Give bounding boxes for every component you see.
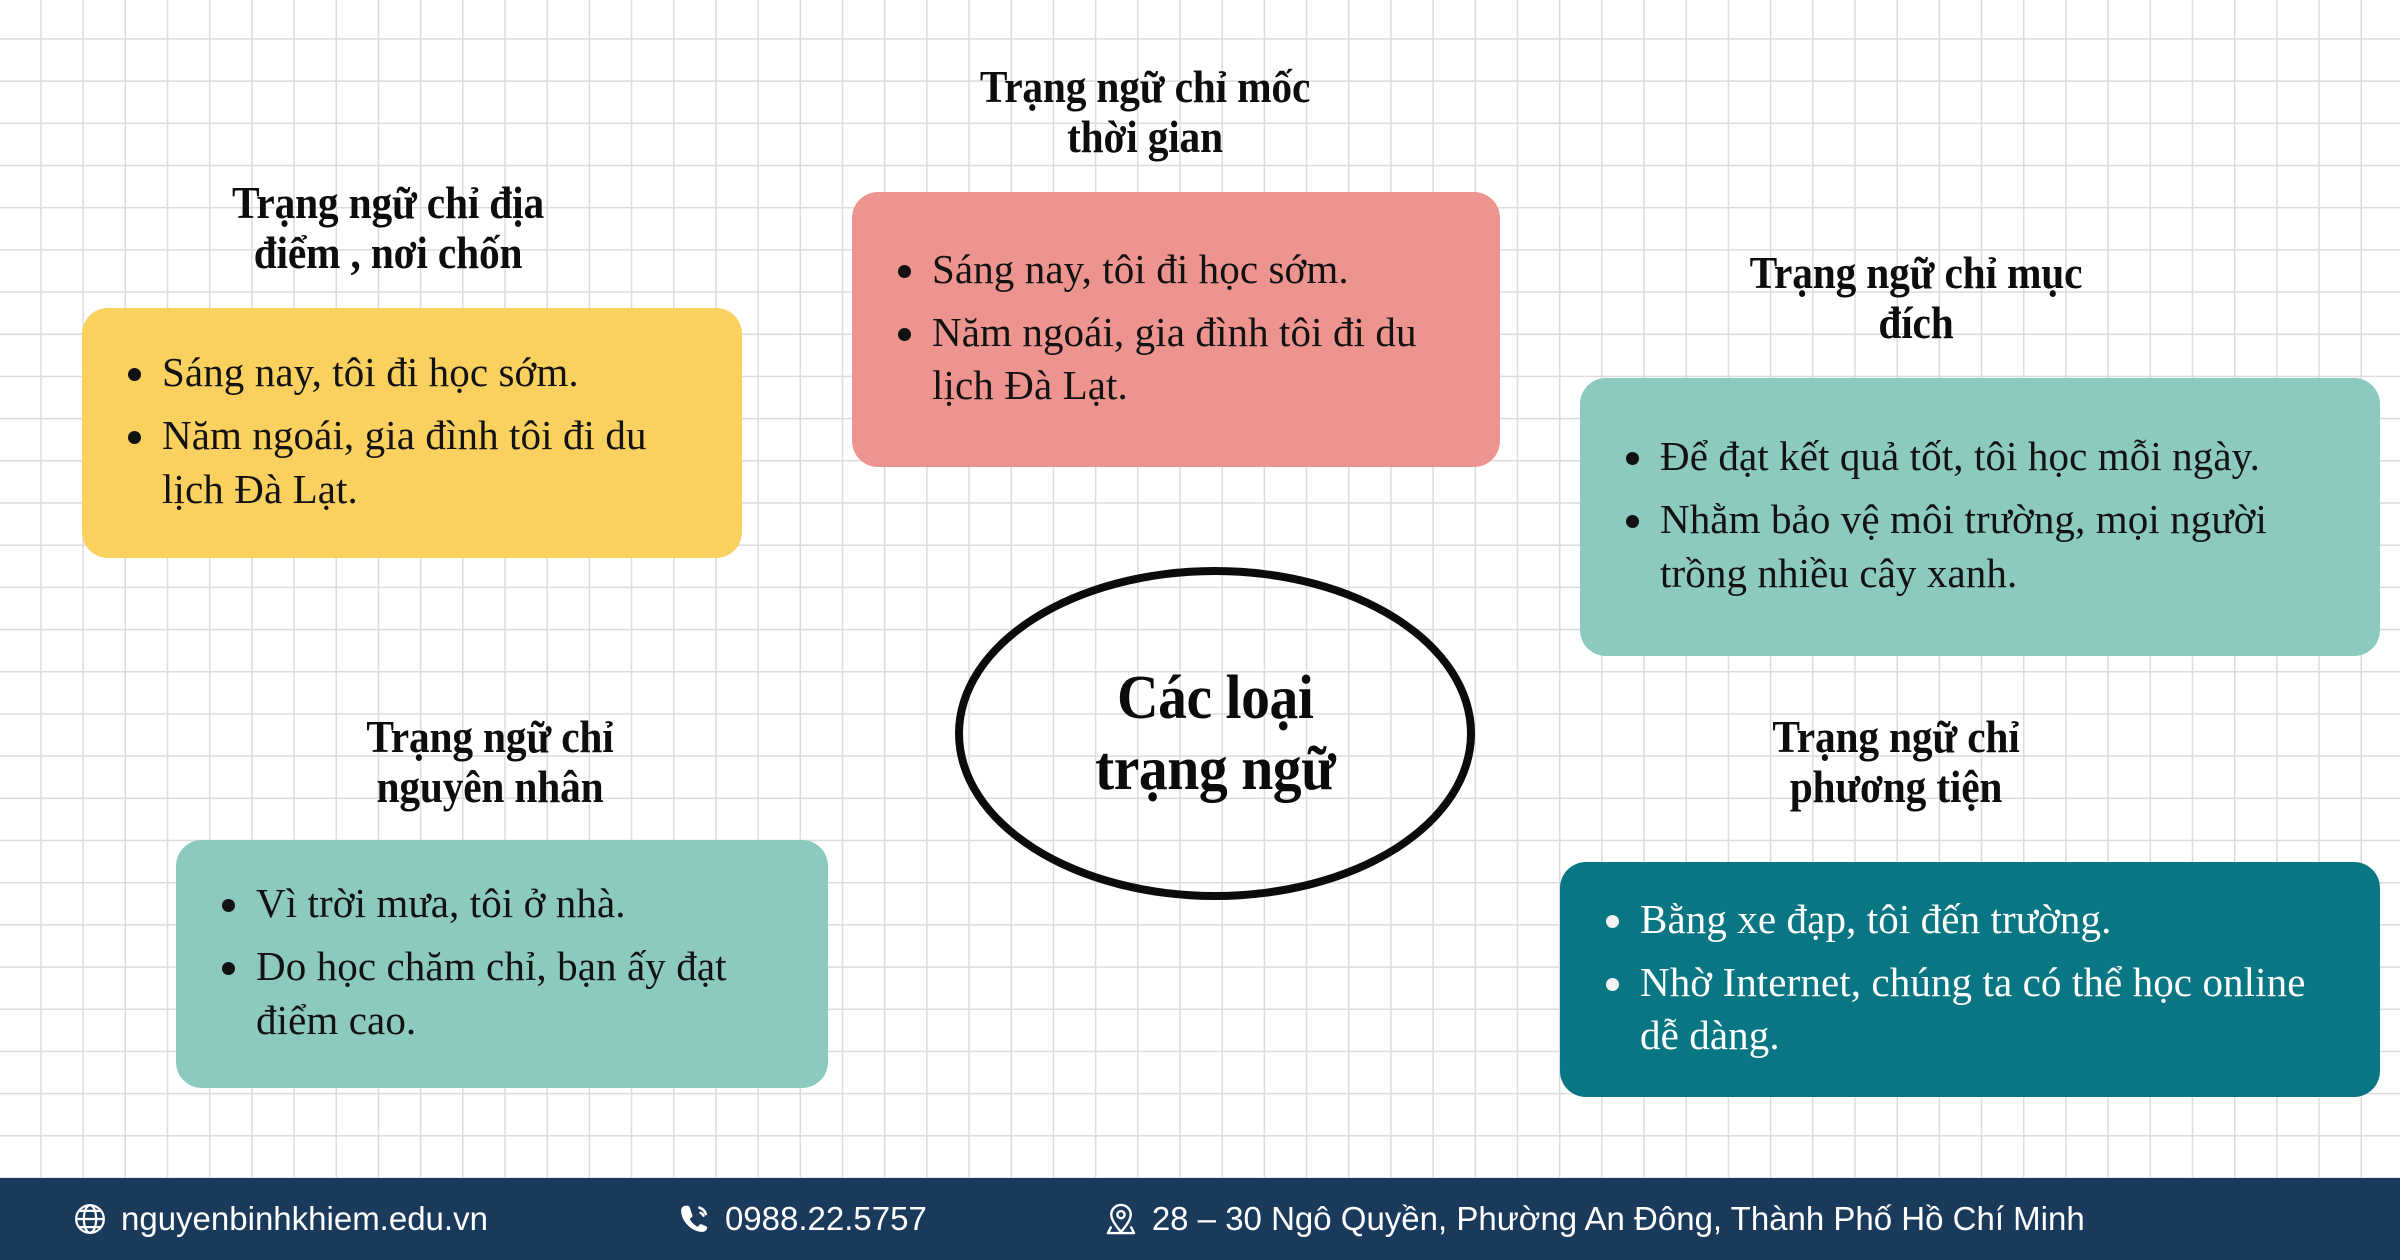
card-means: Bằng xe đạp, tôi đến trường. Nhờ Interne… (1560, 862, 2380, 1097)
address-text: 28 – 30 Ngô Quyền, Phường An Đông, Thành… (1152, 1200, 2085, 1238)
heading-purpose-line1: Trạng ngữ chỉ mục (1658, 248, 2173, 298)
card-time: Sáng nay, tôi đi học sớm. Năm ngoái, gia… (852, 192, 1500, 467)
list-item: Nhờ Internet, chúng ta có thể học online… (1594, 956, 2346, 1063)
card-purpose-list: Để đạt kết quả tốt, tôi học mỗi ngày. Nh… (1614, 430, 2346, 600)
heading-place-line1: Trạng ngữ chỉ địa (130, 178, 645, 228)
center-node-ellipse: Các loại trạng ngữ (955, 567, 1475, 900)
website-text: nguyenbinhkhiem.edu.vn (121, 1200, 488, 1238)
list-item: Sáng nay, tôi đi học sớm. (886, 243, 1466, 296)
card-cause: Vì trời mưa, tôi ở nhà. Do học chăm chỉ,… (176, 840, 828, 1088)
list-item: Bằng xe đạp, tôi đến trường. (1594, 893, 2346, 946)
list-item: Nhằm bảo vệ môi trường, mọi người trồng … (1614, 493, 2346, 600)
list-item: Năm ngoái, gia đình tôi đi du lịch Đà Lạ… (116, 409, 708, 516)
center-label-line2: trạng ngữ (1095, 734, 1335, 805)
heading-means: Trạng ngữ chỉ phương tiện (1657, 712, 2135, 813)
phone-text: 0988.22.5757 (725, 1200, 927, 1238)
heading-time-line1: Trạng ngữ chỉ mốc (883, 62, 1407, 112)
list-item: Sáng nay, tôi đi học sớm. (116, 346, 708, 399)
heading-purpose-line2: đích (1658, 298, 2173, 348)
card-purpose: Để đạt kết quả tốt, tôi học mỗi ngày. Nh… (1580, 378, 2380, 656)
contact-address[interactable]: 28 – 30 Ngô Quyền, Phường An Đông, Thành… (1103, 1200, 2085, 1238)
contact-phone[interactable]: 0988.22.5757 (676, 1200, 927, 1238)
card-place: Sáng nay, tôi đi học sớm. Năm ngoái, gia… (82, 308, 742, 558)
location-pin-icon (1103, 1201, 1139, 1237)
list-item: Năm ngoái, gia đình tôi đi du lịch Đà Lạ… (886, 306, 1466, 413)
globe-icon (72, 1201, 108, 1237)
footer-contact-bar: nguyenbinhkhiem.edu.vn 0988.22.5757 28 –… (0, 1178, 2400, 1260)
heading-cause: Trạng ngữ chỉ nguyên nhân (260, 712, 720, 813)
list-item: Để đạt kết quả tốt, tôi học mỗi ngày. (1614, 430, 2346, 483)
heading-means-line2: phương tiện (1657, 762, 2135, 812)
heading-means-line1: Trạng ngữ chỉ (1657, 712, 2135, 762)
heading-cause-line1: Trạng ngữ chỉ (260, 712, 720, 762)
list-item: Vì trời mưa, tôi ở nhà. (210, 877, 794, 930)
heading-purpose: Trạng ngữ chỉ mục đích (1658, 248, 2173, 349)
card-place-list: Sáng nay, tôi đi học sớm. Năm ngoái, gia… (116, 346, 708, 516)
center-label-line1: Các loại (1095, 663, 1335, 734)
card-time-list: Sáng nay, tôi đi học sớm. Năm ngoái, gia… (886, 243, 1466, 413)
heading-cause-line2: nguyên nhân (260, 762, 720, 812)
list-item: Do học chăm chỉ, bạn ấy đạt điểm cao. (210, 940, 794, 1047)
center-node-label: Các loại trạng ngữ (1095, 663, 1335, 804)
heading-time-line2: thời gian (883, 112, 1407, 162)
heading-place-line2: điểm , nơi chốn (130, 228, 645, 278)
phone-icon (676, 1201, 712, 1237)
heading-place: Trạng ngữ chỉ địa điểm , nơi chốn (130, 178, 645, 279)
heading-time: Trạng ngữ chỉ mốc thời gian (883, 62, 1407, 163)
card-cause-list: Vì trời mưa, tôi ở nhà. Do học chăm chỉ,… (210, 877, 794, 1047)
contact-website[interactable]: nguyenbinhkhiem.edu.vn (72, 1200, 488, 1238)
infographic-stage: Trạng ngữ chỉ địa điểm , nơi chốn Sáng n… (0, 0, 2400, 1260)
card-means-list: Bằng xe đạp, tôi đến trường. Nhờ Interne… (1594, 893, 2346, 1063)
